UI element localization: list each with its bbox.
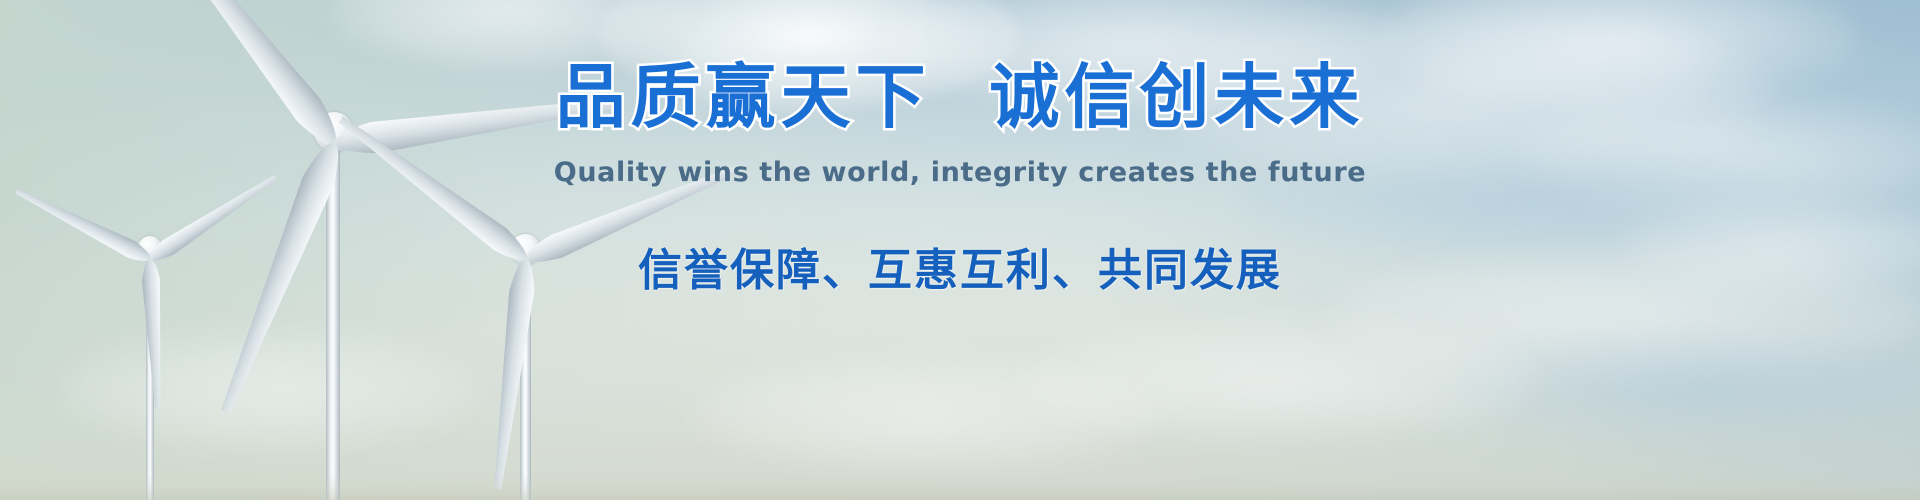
ground-haze [0,474,1920,500]
banner-subtitle-english: Quality wins the world, integrity create… [0,158,1920,188]
banner-tagline: 信誉保障、互惠互利、共同发展 [0,248,1920,294]
promotional-banner: 品质赢天下 诚信创未来 Quality wins the world, inte… [0,0,1920,500]
banner-headline: 品质赢天下 诚信创未来 [0,62,1920,132]
